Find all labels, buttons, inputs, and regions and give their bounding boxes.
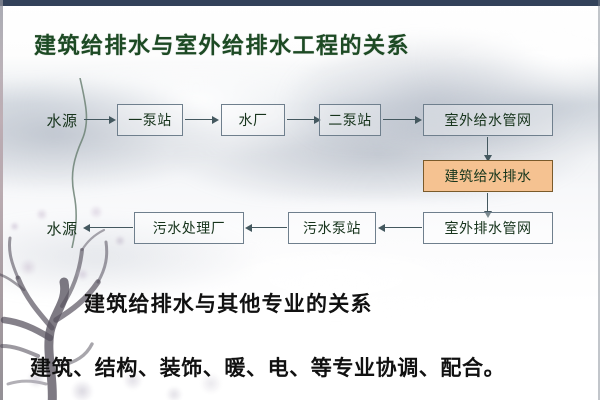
top-border-band	[0, 0, 600, 6]
node-outdoor-supply-network[interactable]: 室外给水管网	[423, 104, 553, 136]
connector-sewage-pump-to-treatment	[250, 227, 287, 228]
node-pump-station-2[interactable]: 二泵站	[319, 104, 381, 136]
connector-pump2-to-supply-network	[383, 119, 416, 120]
node-building-water-supply-drainage[interactable]: 建筑给水排水	[423, 160, 553, 192]
node-label: 室外给水管网	[445, 110, 532, 130]
connector-building-to-drain-network	[487, 193, 488, 213]
arrowhead-to-pump1	[109, 116, 116, 124]
arrowhead-to-plant	[212, 116, 219, 124]
node-outdoor-drain-network[interactable]: 室外排水管网	[423, 212, 553, 244]
node-sewage-treatment-plant[interactable]: 污水处理厂	[134, 212, 244, 244]
node-label: 二泵站	[328, 110, 372, 130]
node-pump-station-1[interactable]: 一泵站	[117, 104, 183, 136]
node-label: 污水泵站	[303, 218, 361, 238]
slide-canvas: 建筑给排水与室外给排水工程的关系 水源 一泵站 水厂 二泵站 室外给水管网 建筑…	[0, 0, 600, 400]
node-label: 室外排水管网	[445, 218, 532, 238]
node-sewage-pump-station[interactable]: 污水泵站	[288, 212, 376, 244]
node-water-source-top[interactable]: 水源	[42, 107, 82, 133]
connector-supply-network-to-building	[487, 137, 488, 157]
disciplines-list-text: 建筑、结构、装饰、暖、电、等专业协调、配合。	[30, 352, 505, 382]
node-label: 水厂	[239, 110, 268, 130]
arrowhead-to-treatment-plant	[245, 224, 252, 232]
node-label: 水源	[46, 110, 77, 131]
node-water-plant[interactable]: 水厂	[221, 104, 285, 136]
connector-drain-network-to-sewage-pump	[383, 227, 422, 228]
connector-pump1-to-plant	[185, 119, 213, 120]
node-label: 污水处理厂	[153, 218, 226, 238]
page-title: 建筑给排水与室外给排水工程的关系	[34, 28, 410, 60]
node-label: 建筑给水排水	[445, 166, 532, 186]
arrowhead-to-supply-network	[415, 116, 422, 124]
arrowhead-to-sewage-pump	[378, 224, 385, 232]
arrowhead-to-water-source-bottom	[83, 224, 90, 232]
left-edge-border	[0, 0, 3, 400]
node-label: 水源	[46, 218, 77, 239]
connector-plant-to-pump2	[287, 119, 315, 120]
node-water-source-bottom[interactable]: 水源	[42, 215, 82, 241]
connector-treatment-to-source	[88, 227, 133, 228]
section-heading-other-disciplines: 建筑给排水与其他专业的关系	[84, 288, 373, 318]
connector-source-to-pump1	[84, 119, 110, 120]
node-label: 一泵站	[128, 110, 172, 130]
